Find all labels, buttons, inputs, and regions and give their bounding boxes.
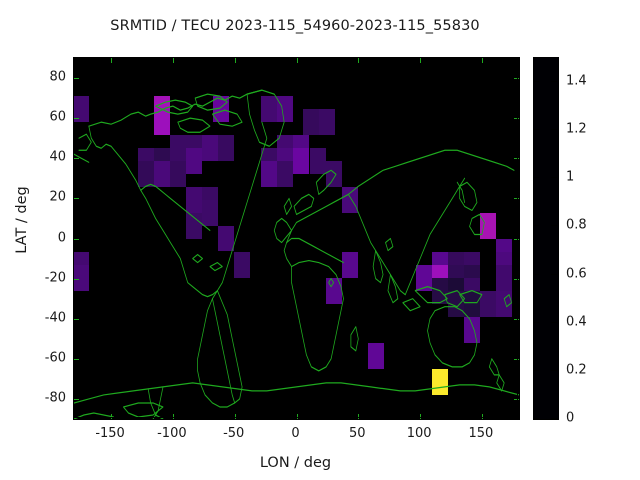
- colorbar-tick-label: 0: [566, 411, 626, 426]
- colorbar-tick-mark: [533, 177, 539, 178]
- colorbar-tick-mark: [551, 177, 557, 178]
- colorbar-tick-label: 1.2: [566, 122, 626, 137]
- colorbar-tick-label: 0.2: [566, 362, 626, 377]
- colorbar-tick-label: 1.4: [566, 74, 626, 89]
- colorbar-tick-label: 1: [566, 170, 626, 185]
- colorbar-tick-mark: [551, 81, 557, 82]
- colorbar-tick-mark: [533, 129, 539, 130]
- colorbar-tick-mark: [533, 81, 539, 82]
- colorbar-tick-mark: [533, 370, 539, 371]
- colorbar-tick-mark: [551, 418, 557, 419]
- colorbar-tick-mark: [551, 225, 557, 226]
- figure-root: SRMTID / TECU 2023-115_54960-2023-115_55…: [0, 0, 640, 480]
- colorbar-tick-label: 0.4: [566, 314, 626, 329]
- colorbar-tick-mark: [533, 418, 539, 419]
- colorbar-tick-label: 0.8: [566, 218, 626, 233]
- colorbar-tick-mark: [551, 322, 557, 323]
- colorbar-ticklabels: 1.41.210.80.60.40.20: [0, 0, 640, 480]
- colorbar-tick-mark: [533, 274, 539, 275]
- colorbar-tick-mark: [551, 129, 557, 130]
- colorbar-tick-label: 0.6: [566, 266, 626, 281]
- colorbar-tick-mark: [551, 274, 557, 275]
- colorbar-tick-mark: [551, 370, 557, 371]
- colorbar-tick-mark: [533, 225, 539, 226]
- colorbar-tick-mark: [533, 322, 539, 323]
